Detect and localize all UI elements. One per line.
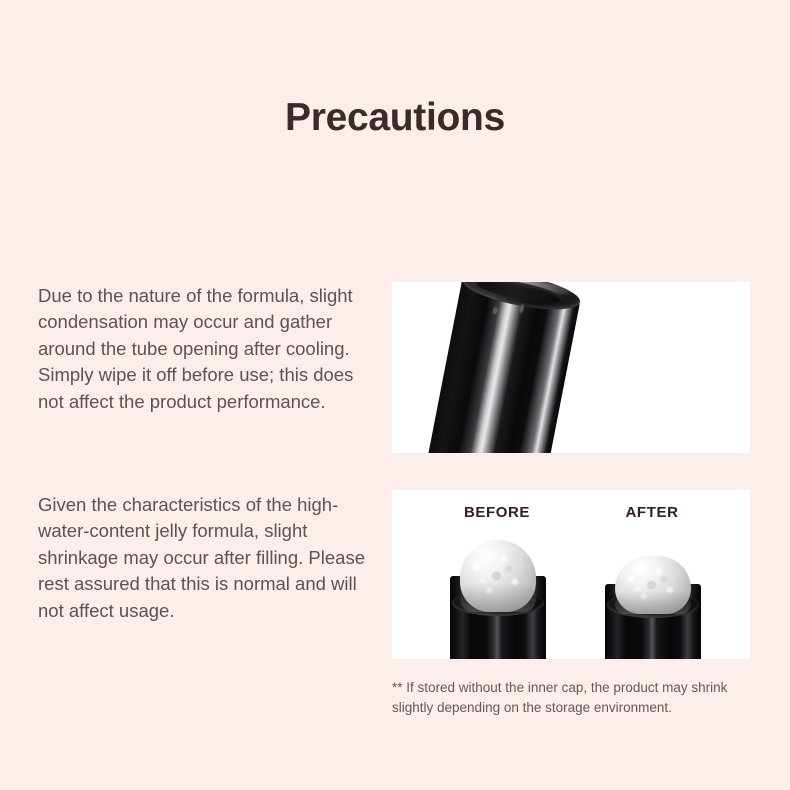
page-title: Precautions [0, 96, 790, 140]
storage-footnote: ** If stored without the inner cap, the … [392, 678, 748, 718]
precaution-note-shrinkage: Given the characteristics of the high-wa… [38, 492, 368, 624]
balm-dome-before [460, 540, 536, 612]
precaution-note-condensation: Due to the nature of the formula, slight… [38, 283, 368, 415]
tube-opening-image-panel [392, 282, 750, 453]
tube-before-illustration [450, 534, 546, 659]
balm-shading [615, 591, 691, 614]
balm-shading [460, 583, 536, 612]
tube-after-illustration [605, 542, 701, 659]
black-tube-illustration [421, 282, 583, 453]
after-label: AFTER [592, 504, 712, 521]
before-after-image-panel: BEFORE AFTER [392, 490, 750, 659]
balm-dome-after [615, 556, 691, 614]
before-label: BEFORE [437, 504, 557, 521]
